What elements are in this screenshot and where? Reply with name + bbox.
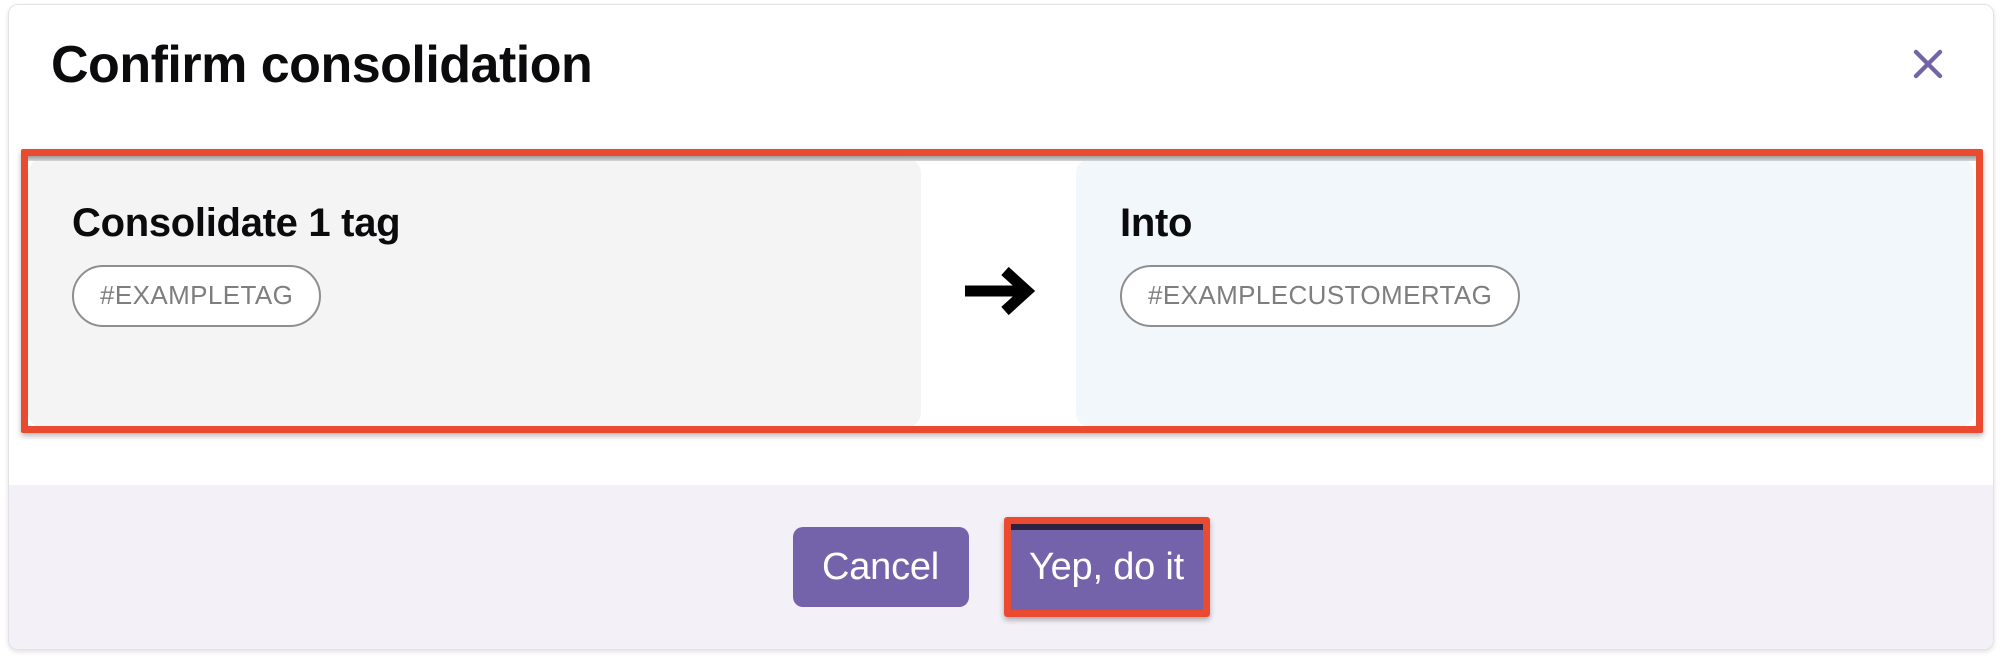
close-button[interactable] [1905, 41, 1951, 87]
page-title: Confirm consolidation [51, 39, 592, 91]
target-tag-chip[interactable]: #EXAMPLECUSTOMERTAG [1120, 265, 1520, 327]
arrow-right-icon [961, 262, 1037, 325]
modal-overlay: Confirm consolidation Consolidate 1 tag … [0, 0, 2002, 658]
dialog-body: Consolidate 1 tag #EXAMPLETAG Into #EXAM… [9, 145, 1993, 485]
source-card-heading: Consolidate 1 tag [72, 203, 921, 243]
dialog-footer: Cancel Yep, do it [9, 485, 1993, 649]
confirm-consolidation-dialog: Confirm consolidation Consolidate 1 tag … [8, 4, 1994, 650]
confirm-button[interactable]: Yep, do it [1011, 524, 1203, 610]
source-tag-chip[interactable]: #EXAMPLETAG [72, 265, 321, 327]
cancel-button[interactable]: Cancel [793, 527, 969, 607]
source-tag-card: Consolidate 1 tag #EXAMPLETAG [28, 159, 921, 427]
consolidation-summary: Consolidate 1 tag #EXAMPLETAG Into #EXAM… [28, 159, 1974, 427]
target-tag-card: Into #EXAMPLECUSTOMERTAG [1076, 159, 1974, 427]
close-icon [1908, 44, 1948, 84]
annotation-highlight-confirm: Yep, do it [1004, 517, 1210, 617]
consolidation-arrow [921, 159, 1076, 427]
dialog-header: Confirm consolidation [9, 5, 1993, 145]
target-card-heading: Into [1120, 203, 1974, 243]
